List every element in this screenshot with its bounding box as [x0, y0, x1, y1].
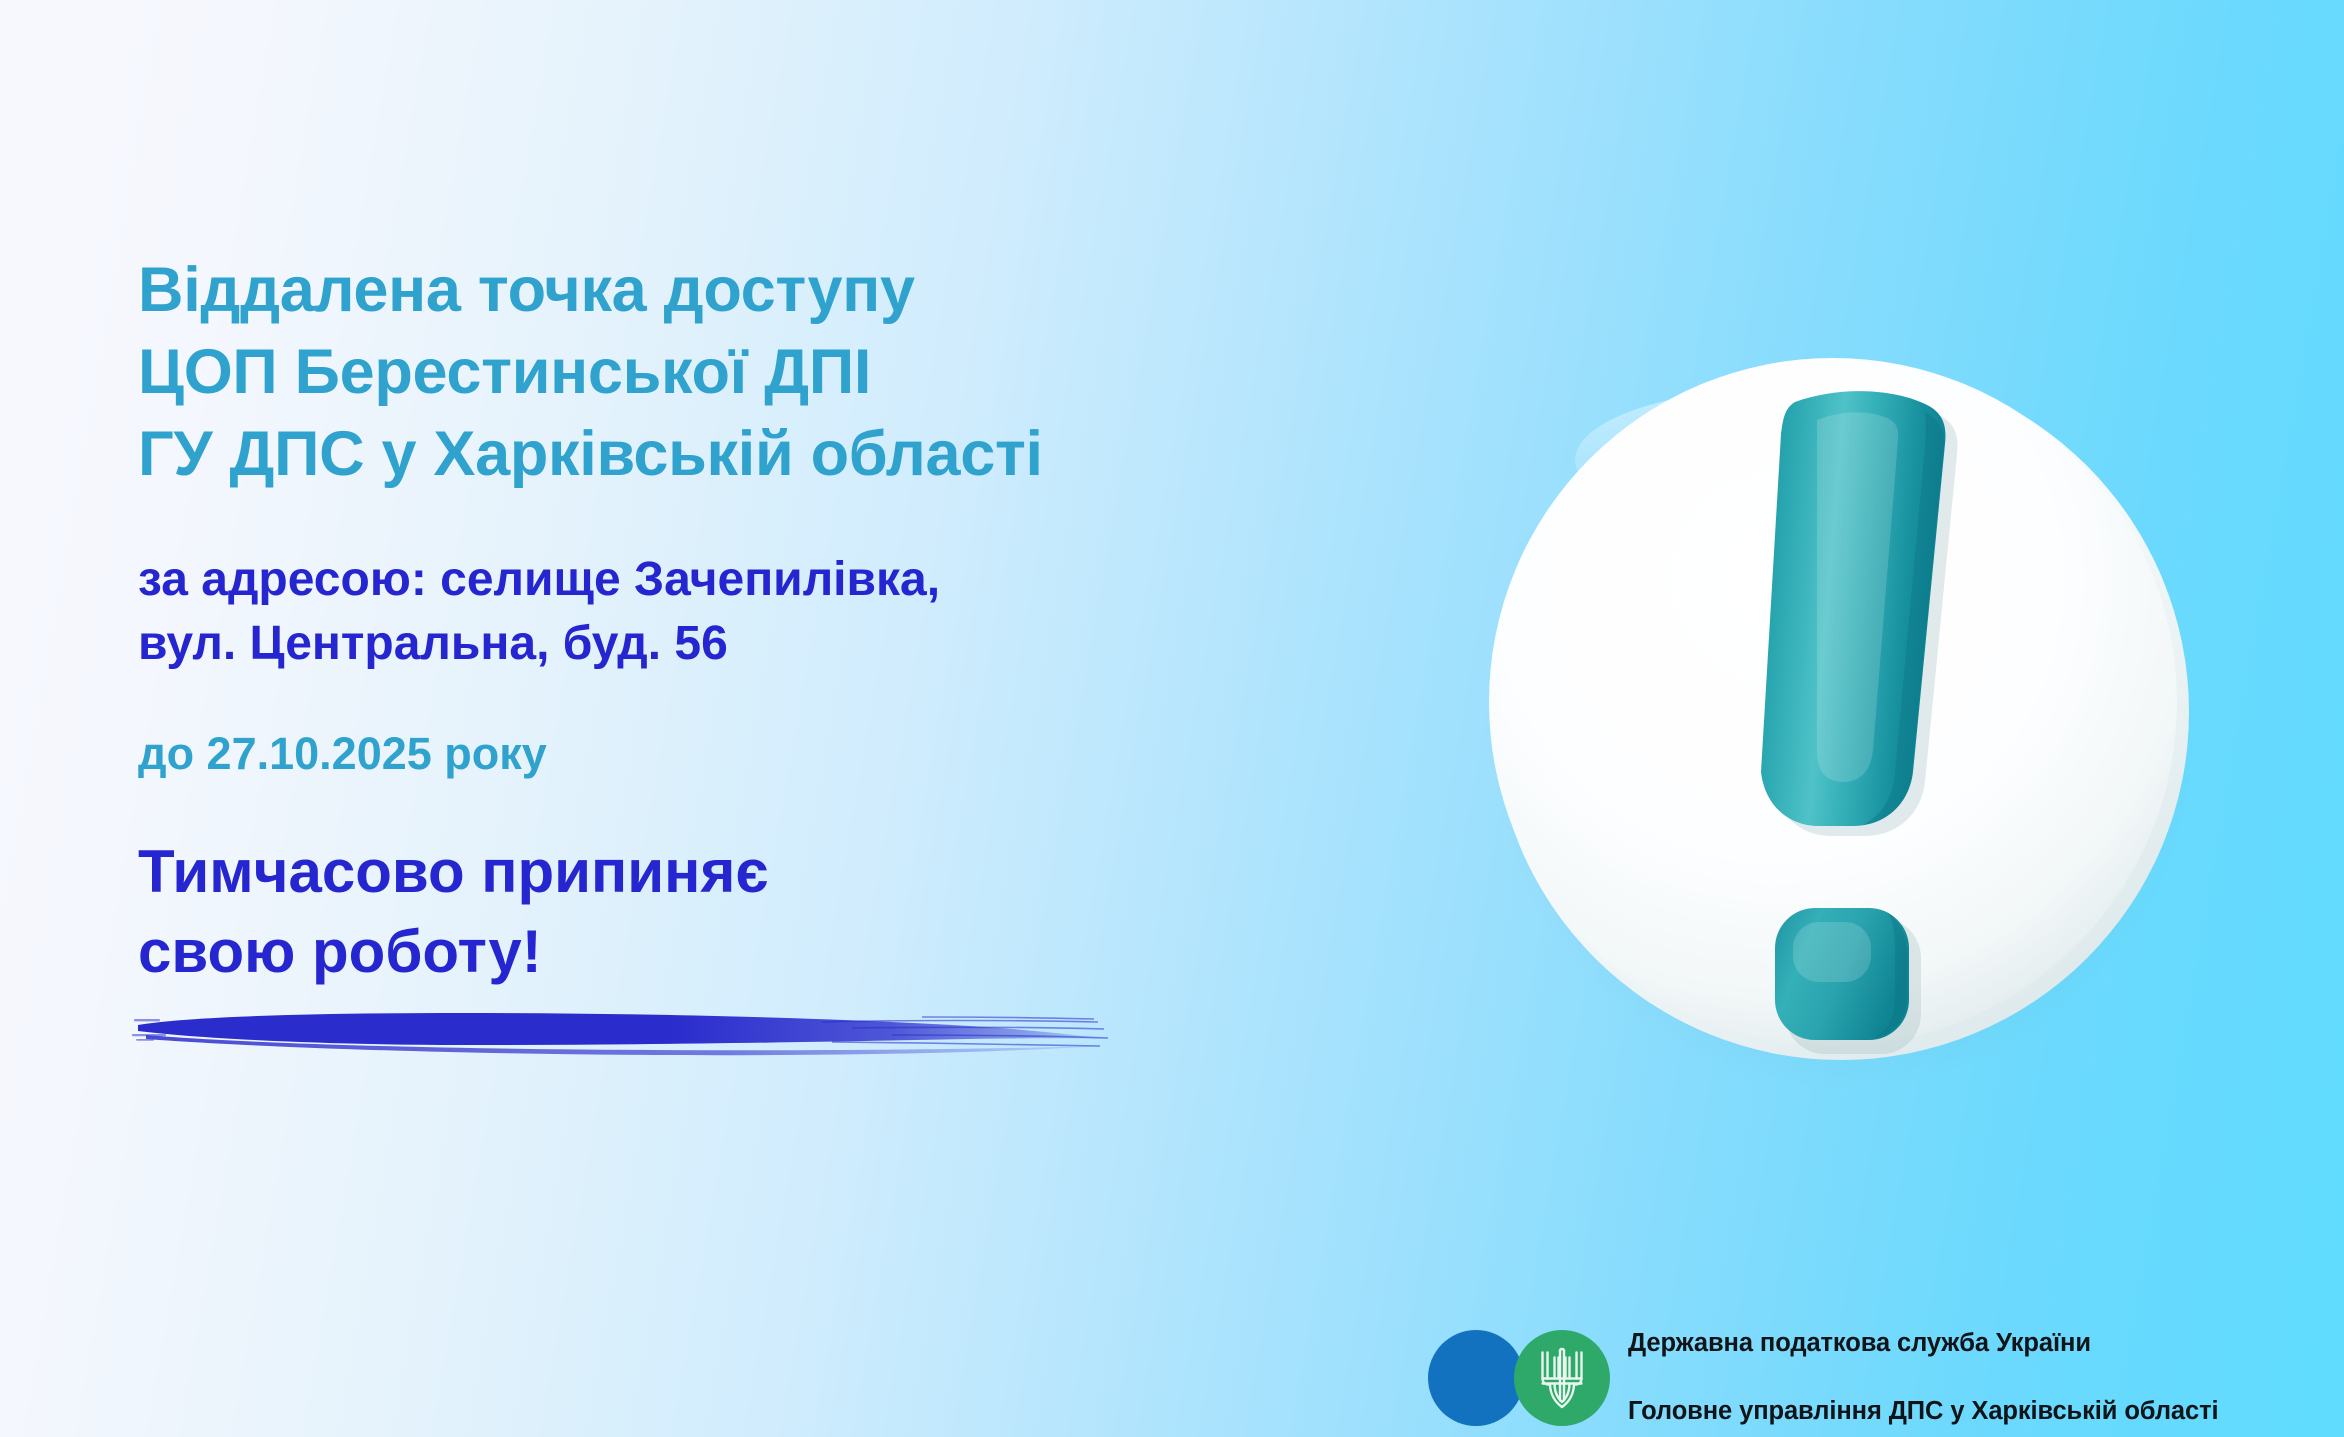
brush-underline	[132, 1005, 1112, 1067]
announcement-poster: Віддалена точка доступу ЦОП Берестинсько…	[0, 0, 2344, 1437]
organization-logo: Державна податкова служба України Головн…	[1424, 1293, 2218, 1437]
logo-line-1: Державна податкова служба України	[1628, 1327, 2218, 1361]
logo-text: Державна податкова служба України Головн…	[1628, 1293, 2218, 1437]
announcement-text: Тимчасово припиняє свою роботу!	[138, 784, 1378, 992]
text-content-column: Віддалена точка доступу ЦОП Берестинсько…	[138, 250, 1378, 1067]
exclamation-mark-3d-icon	[1455, 320, 2215, 1090]
logo-circles	[1424, 1326, 1614, 1430]
address-line: за адресою: селище Зачепилівка, вул. Цен…	[138, 496, 1378, 676]
logo-circle-blue	[1428, 1330, 1524, 1426]
deadline-text: до 27.10.2025 року	[138, 675, 1378, 784]
logo-line-2: Головне управління ДПС у Харківській обл…	[1628, 1395, 2218, 1429]
page-title: Віддалена точка доступу ЦОП Берестинсько…	[138, 250, 1378, 496]
